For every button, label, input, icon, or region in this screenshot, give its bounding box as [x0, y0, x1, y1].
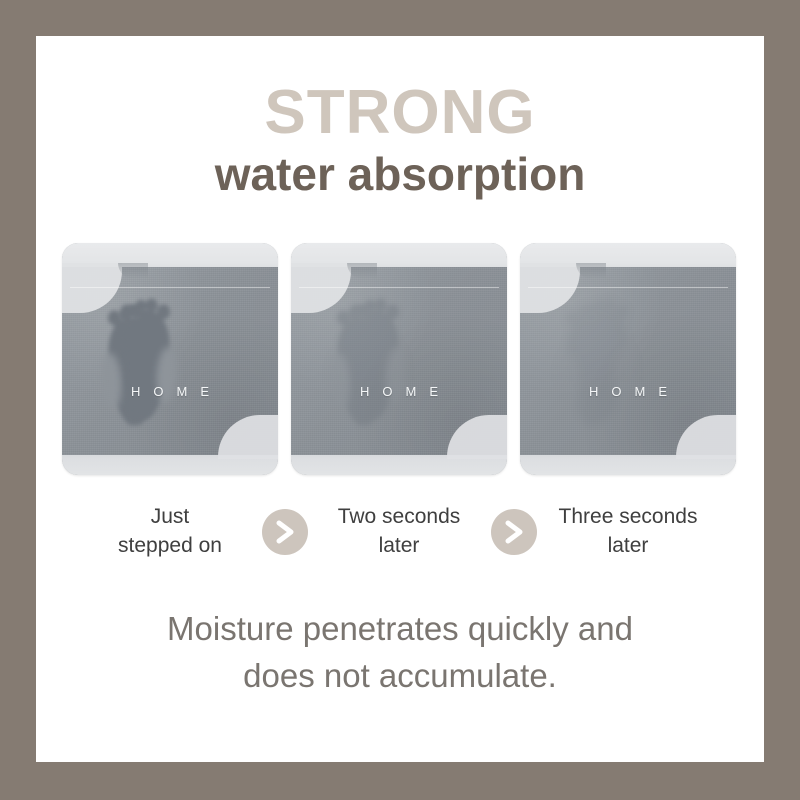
mat-seam-2: [299, 287, 499, 288]
caption-1: Just stepped on: [62, 503, 278, 560]
caption-3-line1: Three seconds: [520, 503, 736, 532]
footer-tagline: Moisture penetrates quickly and does not…: [36, 606, 764, 700]
mat-body-1: HOME: [62, 267, 278, 455]
mat-wordmark-3: HOME: [520, 384, 736, 399]
caption-3-line2: later: [520, 532, 736, 561]
chevron-right-icon: [491, 509, 537, 555]
mat-cell-3: HOME: [520, 243, 736, 475]
mat-wordmark-2: HOME: [291, 384, 507, 399]
heading-secondary: water absorption: [36, 147, 764, 201]
mat-cell-2: HOME: [291, 243, 507, 475]
poster-canvas: STRONG water absorption: [36, 36, 764, 762]
mat-seam-3: [528, 287, 728, 288]
mat-cell-1: HOME: [62, 243, 278, 475]
mat-wordmark-1: HOME: [62, 384, 278, 399]
chevron-right-icon: [262, 509, 308, 555]
caption-1-line2: stepped on: [62, 532, 278, 561]
heading-primary: STRONG: [36, 80, 764, 145]
caption-2-line2: later: [291, 532, 507, 561]
footer-line-1: Moisture penetrates quickly and: [36, 606, 764, 653]
heading-block: STRONG water absorption: [36, 36, 764, 201]
poster-frame: STRONG water absorption: [0, 0, 800, 800]
caption-1-line1: Just: [62, 503, 278, 532]
bath-mat-image-2: HOME: [291, 243, 507, 475]
caption-2-line1: Two seconds: [291, 503, 507, 532]
mat-body-2: HOME: [291, 267, 507, 455]
mat-seam-1: [70, 287, 270, 288]
bath-mat-image-1: HOME: [62, 243, 278, 475]
caption-2: Two seconds later: [291, 503, 507, 560]
bath-mat-image-3: HOME: [520, 243, 736, 475]
caption-row: Just stepped on Two seconds later: [62, 503, 738, 560]
mat-body-3: HOME: [520, 267, 736, 455]
footer-line-2: does not accumulate.: [36, 653, 764, 700]
caption-3: Three seconds later: [520, 503, 736, 560]
mat-comparison-row: HOME: [62, 243, 738, 475]
